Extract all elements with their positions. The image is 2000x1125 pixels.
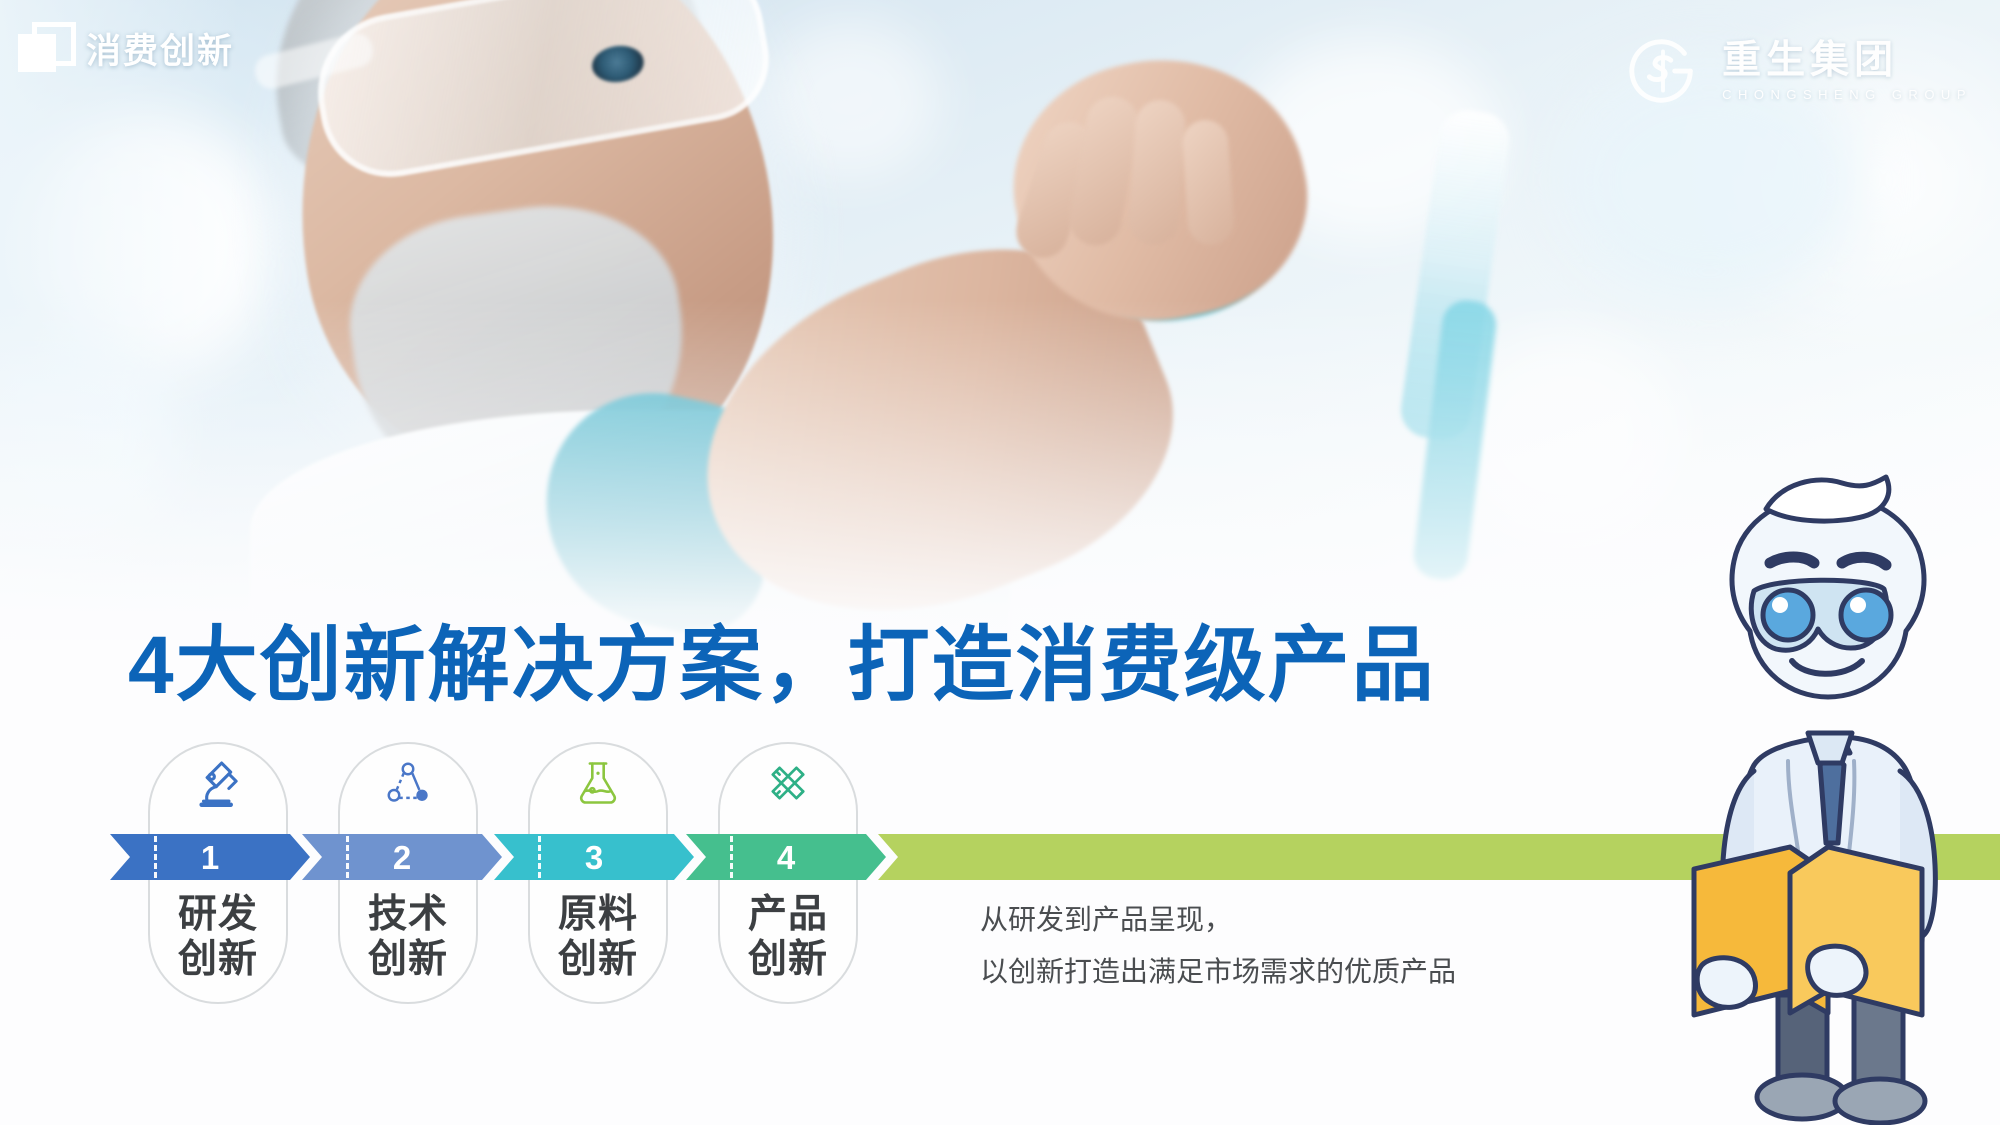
- description-line-1: 从研发到产品呈现，: [980, 894, 1500, 946]
- step-label-4-line1: 产品: [718, 892, 858, 937]
- process-step-1[interactable]: 1: [110, 834, 310, 880]
- process-step-4[interactable]: 4: [686, 834, 886, 880]
- flask-icon: [528, 748, 668, 818]
- step-label-1: 研发 创新: [148, 892, 288, 982]
- square-outline-logo-icon: [18, 22, 70, 74]
- step-labels: 研发 创新 技术 创新 原料 创新 产品 创新: [148, 892, 918, 1022]
- brand-name-cn: 重生集团: [1722, 41, 1972, 80]
- step-number-4: 4: [686, 834, 886, 880]
- step-icons: [148, 748, 918, 818]
- page-title: 消费创新: [86, 23, 234, 74]
- step-number-2: 2: [302, 834, 502, 880]
- step-label-3-line2: 创新: [528, 937, 668, 982]
- description-text: 从研发到产品呈现， 以创新打造出满足市场需求的优质产品: [980, 894, 1500, 998]
- brand-name-en: CHONGSHENG GROUP: [1722, 87, 1972, 102]
- step-label-1-line1: 研发: [148, 892, 288, 937]
- process-diagram: 1 2 3 4 研发: [110, 742, 1350, 1072]
- scientist-mascot: [1658, 465, 1998, 1125]
- molecule-icon: [338, 748, 478, 818]
- step-label-2: 技术 创新: [338, 892, 478, 982]
- step-label-1-line2: 创新: [148, 937, 288, 982]
- description-line-2: 以创新打造出满足市场需求的优质产品: [980, 946, 1500, 998]
- headline: 4大创新解决方案，打造消费级产品: [128, 598, 1436, 717]
- cs-circular-logo-icon: [1624, 32, 1702, 110]
- step-label-4: 产品 创新: [718, 892, 858, 982]
- process-step-3[interactable]: 3: [494, 834, 694, 880]
- slide-root: 消费创新 重生集团 CHONGSHENG GROUP 4大创新解决方案，打造消费…: [0, 0, 2000, 1125]
- header-left: 消费创新: [18, 22, 234, 74]
- process-tail: [878, 834, 1358, 880]
- step-label-3: 原料 创新: [528, 892, 668, 982]
- step-label-2-line1: 技术: [338, 892, 478, 937]
- design-tools-icon: [718, 748, 858, 818]
- step-number-3: 3: [494, 834, 694, 880]
- process-arrow-bar: 1 2 3 4: [110, 834, 1350, 880]
- process-step-2[interactable]: 2: [302, 834, 502, 880]
- step-label-3-line1: 原料: [528, 892, 668, 937]
- step-label-4-line2: 创新: [718, 937, 858, 982]
- microscope-icon: [148, 748, 288, 818]
- step-number-1: 1: [110, 834, 310, 880]
- brand-logo: 重生集团 CHONGSHENG GROUP: [1624, 32, 1972, 110]
- step-label-2-line2: 创新: [338, 937, 478, 982]
